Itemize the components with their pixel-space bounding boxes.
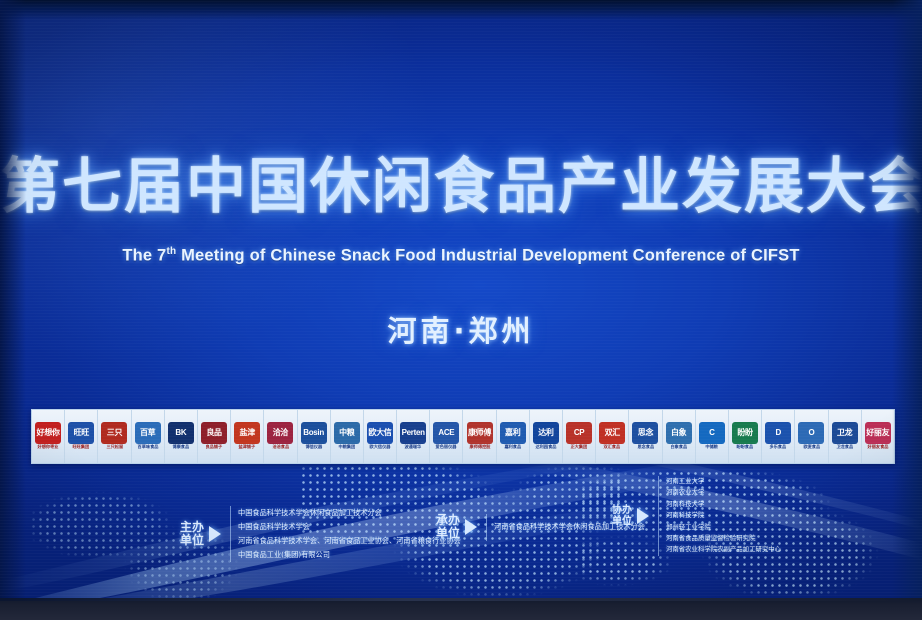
presentation-slide-screen: 第七届中国休闲食品产业发展大会 The 7th Meeting of Chine… xyxy=(0,0,922,620)
screen-right-shadow xyxy=(892,0,922,620)
screen-bezel-bottom xyxy=(0,598,922,620)
screen-left-shadow xyxy=(0,0,26,620)
background-vignette xyxy=(0,0,922,620)
screen-top-shadow xyxy=(0,0,922,20)
